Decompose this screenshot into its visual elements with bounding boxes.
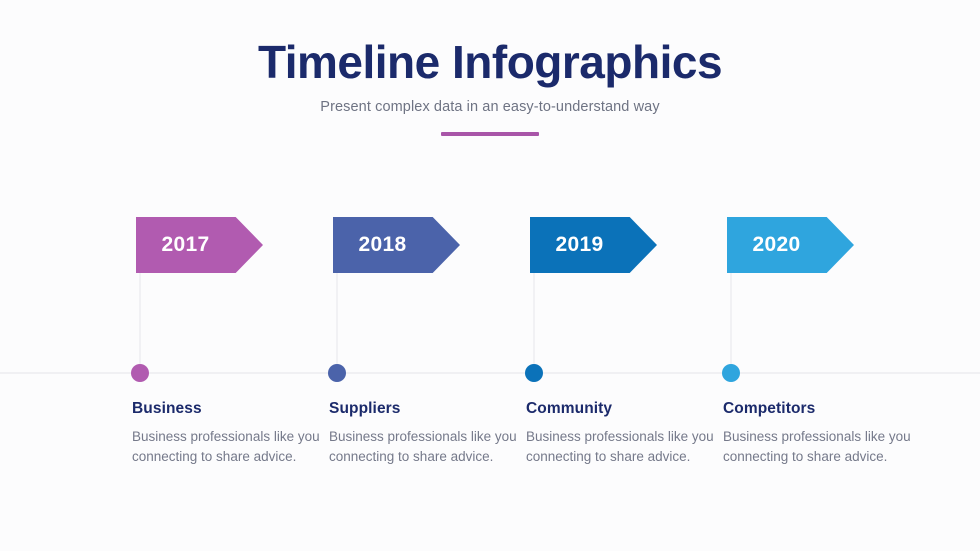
connector-stem: [533, 273, 535, 372]
timeline-dot[interactable]: [722, 364, 740, 382]
timeline-dot[interactable]: [328, 364, 346, 382]
year-arrow-banner[interactable]: 2019: [530, 217, 657, 273]
timeline-dot[interactable]: [525, 364, 543, 382]
milestone-description: Business professionals like you connecti…: [132, 418, 320, 466]
milestone-heading: Suppliers: [329, 400, 517, 418]
year-label: 2017: [136, 217, 235, 273]
connector-stem: [730, 273, 732, 372]
year-label: 2018: [333, 217, 432, 273]
milestone-text-block: BusinessBusiness professionals like you …: [132, 400, 320, 466]
milestone-text-block: SuppliersBusiness professionals like you…: [329, 400, 517, 466]
milestone-description: Business professionals like you connecti…: [329, 418, 517, 466]
milestone-description: Business professionals like you connecti…: [526, 418, 714, 466]
milestone-heading: Community: [526, 400, 714, 418]
milestone-description: Business professionals like you connecti…: [723, 418, 911, 466]
connector-stem: [336, 273, 338, 372]
year-arrow-banner[interactable]: 2020: [727, 217, 854, 273]
year-label: 2019: [530, 217, 629, 273]
milestone-text-block: CompetitorsBusiness professionals like y…: [723, 400, 911, 466]
connector-stem: [139, 273, 141, 372]
year-arrow-banner[interactable]: 2017: [136, 217, 263, 273]
year-arrow-banner[interactable]: 2018: [333, 217, 460, 273]
milestone-heading: Competitors: [723, 400, 911, 418]
timeline-dot[interactable]: [131, 364, 149, 382]
timeline-diagram: 2017BusinessBusiness professionals like …: [0, 0, 980, 551]
milestone-heading: Business: [132, 400, 320, 418]
year-label: 2020: [727, 217, 826, 273]
milestone-text-block: CommunityBusiness professionals like you…: [526, 400, 714, 466]
